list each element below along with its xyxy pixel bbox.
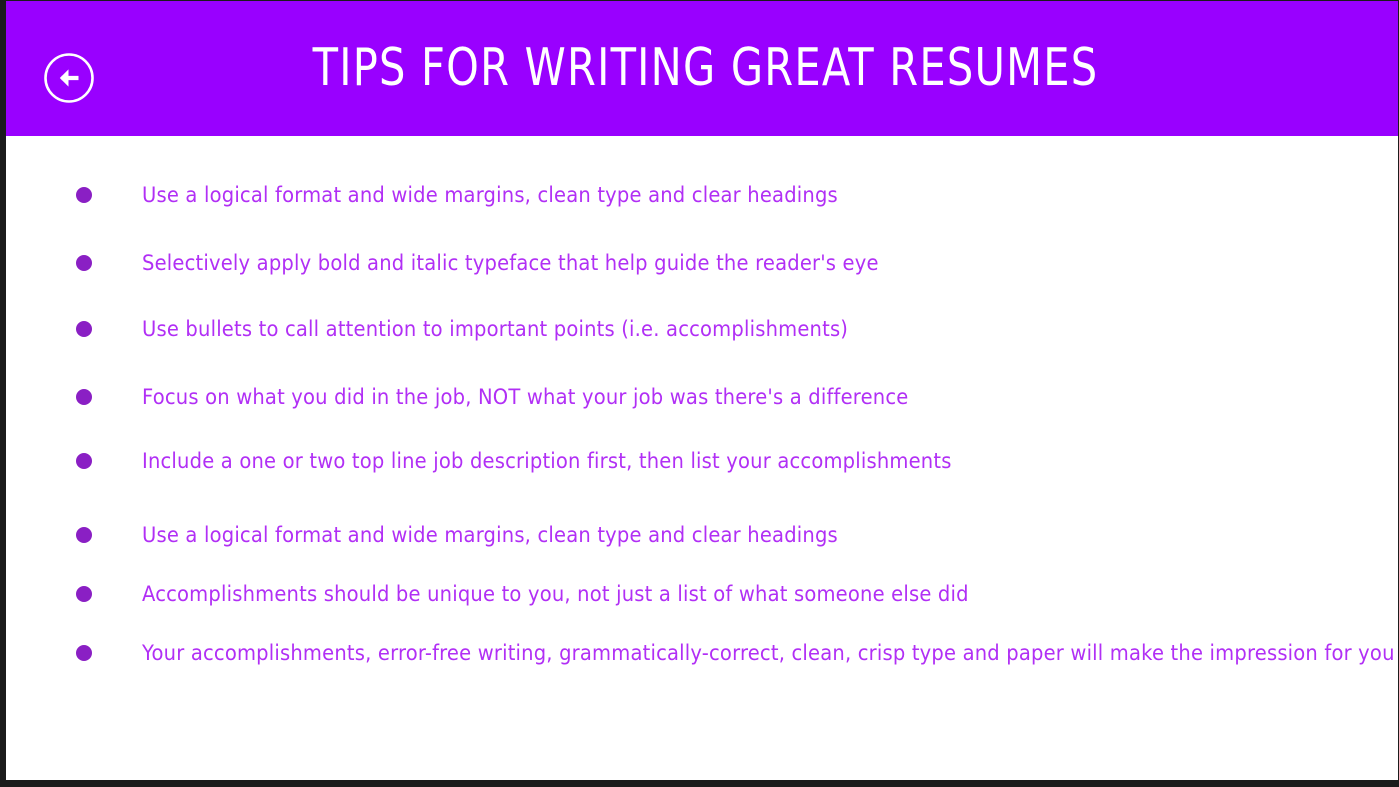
bullet-dot-icon: [76, 187, 92, 203]
list-item-label: Use a logical format and wide margins, c…: [142, 180, 838, 210]
list-item-label: Use bullets to call attention to importa…: [142, 314, 848, 344]
bullet-dot-icon: [76, 527, 92, 543]
list-item-label: Your accomplishments, error-free writing…: [142, 638, 1395, 668]
slide-canvas: TIPS FOR WRITING GREAT RESUMES Use a log…: [0, 0, 1399, 787]
list-item-label: Include a one or two top line job descri…: [142, 446, 952, 476]
bullet-dot-icon: [76, 645, 92, 661]
slide-header: TIPS FOR WRITING GREAT RESUMES: [6, 1, 1399, 136]
back-button[interactable]: [40, 49, 97, 106]
bullet-dot-icon: [76, 255, 92, 271]
list-item-label: Use a logical format and wide margins, c…: [142, 520, 838, 550]
list-item: Include a one or two top line job descri…: [76, 446, 1013, 476]
back-arrow-circle-icon: [43, 52, 95, 104]
list-item: Use a logical format and wide margins, c…: [76, 180, 890, 210]
list-item: Your accomplishments, error-free writing…: [76, 638, 1399, 668]
bullet-dot-icon: [76, 389, 92, 405]
list-item: Use bullets to call attention to importa…: [76, 314, 901, 344]
list-item-label: Focus on what you did in the job, NOT wh…: [142, 382, 908, 412]
list-item: Use a logical format and wide margins, c…: [76, 520, 890, 550]
bullet-dot-icon: [76, 321, 92, 337]
list-item: Focus on what you did in the job, NOT wh…: [76, 382, 966, 412]
slide-content: Use a logical format and wide margins, c…: [6, 136, 1399, 781]
bullet-dot-icon: [76, 453, 92, 469]
list-item: Accomplishments should be unique to you,…: [76, 579, 1031, 609]
list-item: Selectively apply bold and italic typefa…: [76, 248, 934, 278]
list-item-label: Accomplishments should be unique to you,…: [142, 579, 969, 609]
bullet-dot-icon: [76, 586, 92, 602]
list-item-label: Selectively apply bold and italic typefa…: [142, 248, 879, 278]
page-title: TIPS FOR WRITING GREAT RESUMES: [146, 1, 1265, 136]
